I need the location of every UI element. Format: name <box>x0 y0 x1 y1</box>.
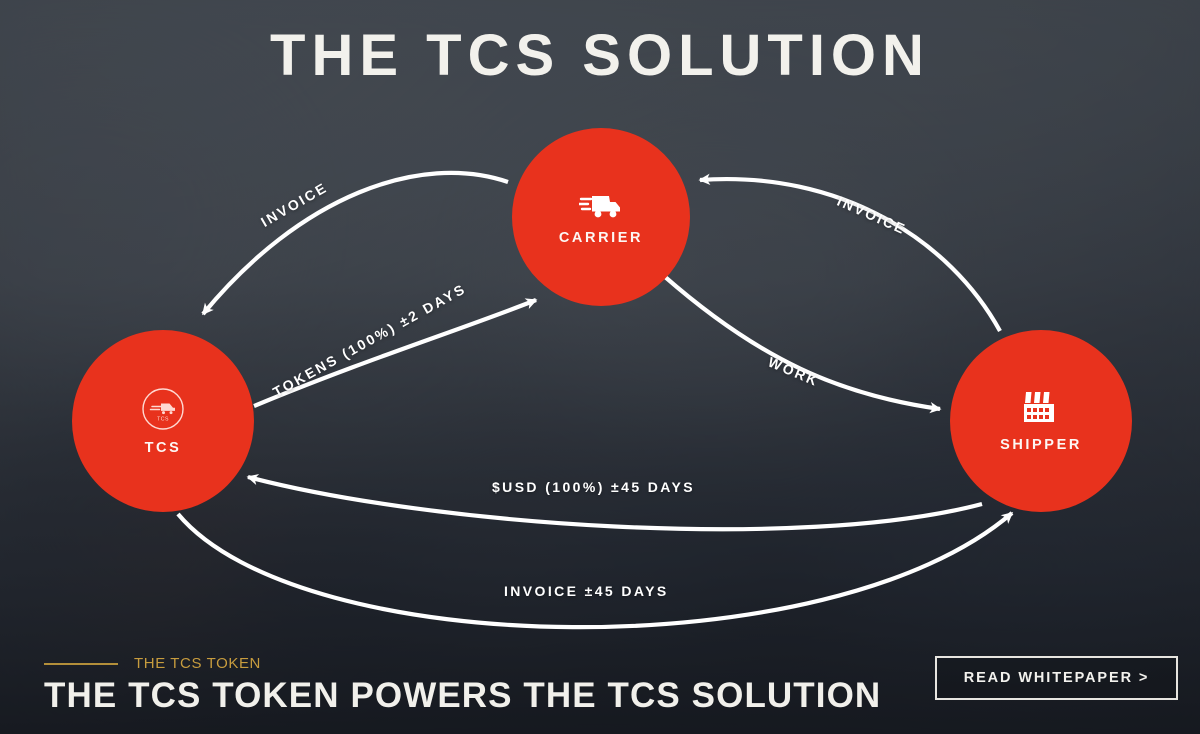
read-whitepaper-label: READ WHITEPAPER > <box>964 670 1150 686</box>
accent-dash-divider <box>44 663 118 665</box>
node-carrier[interactable]: CARRIER <box>512 128 690 306</box>
node-tcs-label: TCS <box>145 440 182 456</box>
svg-text:TCS: TCS <box>157 416 169 422</box>
edge-carrier-to-shipper <box>664 276 940 409</box>
edge-label-tcs-to-shipper: INVOICE ±45 DAYS <box>504 583 669 599</box>
factory-icon <box>1020 390 1062 428</box>
tcs-logo-icon: TCS <box>141 387 185 431</box>
edge-label-shipper-to-tcs: $USD (100%) ±45 DAYS <box>492 479 695 495</box>
node-carrier-label: CARRIER <box>559 230 643 246</box>
node-shipper[interactable]: SHIPPER <box>950 330 1132 512</box>
edge-tcs-to-shipper <box>178 513 1012 627</box>
node-tcs[interactable]: TCS TCS <box>72 330 254 512</box>
node-shipper-label: SHIPPER <box>1000 437 1082 453</box>
read-whitepaper-button[interactable]: READ WHITEPAPER > <box>935 656 1178 700</box>
delivery-truck-icon <box>579 189 623 221</box>
footer-eyebrow: THE TCS TOKEN <box>134 655 261 672</box>
infographic-canvas: THE TCS SOLUTION TCS <box>0 0 1200 734</box>
